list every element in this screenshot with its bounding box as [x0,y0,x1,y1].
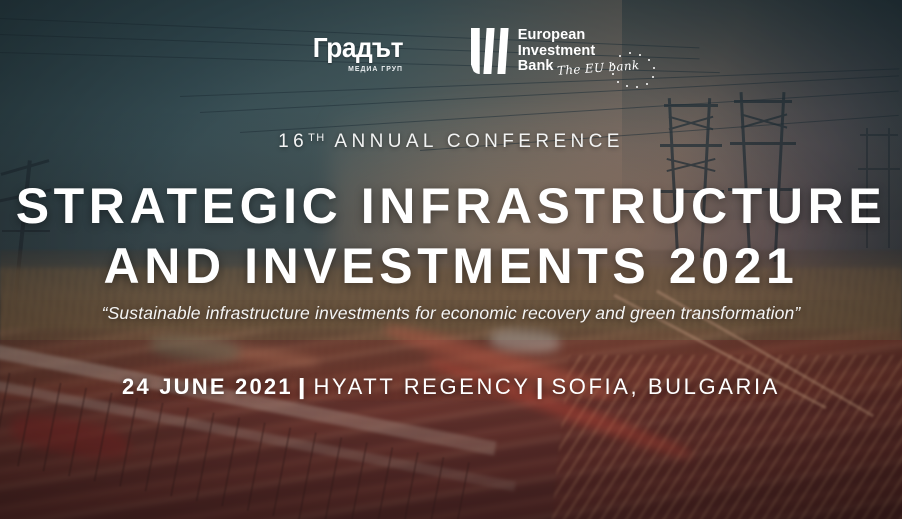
gradat-logo-subtitle: МЕДИА ГРУП [314,64,402,73]
kicker-number: 16 [278,131,308,152]
eu-star-icon [612,63,614,65]
eu-star-icon [617,81,619,83]
gradat-logo-wordmark: Градът [312,34,402,62]
event-details: 24 JUNE 2021|HYATT REGENCY|SOFIA, BULGAR… [0,374,902,400]
banner-content: Градът МЕДИА ГРУП European Investment Ba… [0,0,902,519]
eu-star-icon [619,55,621,57]
eu-star-icon [612,73,614,75]
conference-banner: Градът МЕДИА ГРУП European Investment Ba… [0,0,902,519]
eu-star-icon [629,52,631,54]
eu-star-icon [626,85,628,87]
page-title: STRATEGIC INFRASTRUCTURE AND INVESTMENTS… [0,176,902,296]
eu-star-icon [652,76,654,78]
eu-star-icon [639,54,641,56]
detail-separator: | [289,374,317,400]
conference-tagline: “Sustainable infrastructure investments … [0,303,902,324]
eu-star-icon [653,67,655,69]
eu-star-icon [648,59,650,61]
eu-star-icon [636,86,638,88]
eu-bank-tagline-group: The EU bank [557,55,667,89]
event-venue: HYATT REGENCY [314,374,531,399]
event-date: 24 JUNE 2021 [122,374,293,399]
eib-logo-line-1: European [518,28,596,44]
kicker-text: ANNUAL CONFERENCE [334,131,623,152]
eu-bank-tagline: The EU bank [556,58,639,78]
detail-separator: | [527,374,555,400]
european-investment-bank-logo: European Investment Bank The EU bank [471,22,596,75]
kicker-ordinal: TH [308,132,326,144]
title-line-2: AND INVESTMENTS 2021 [0,236,902,296]
eib-bars-icon [471,28,509,74]
logo-row: Градът МЕДИА ГРУП European Investment Ba… [0,22,902,92]
gradat-media-group-logo: Градът МЕДИА ГРУП [307,22,403,73]
title-line-1: STRATEGIC INFRASTRUCTURE [0,176,902,236]
event-location: SOFIA, BULGARIA [551,374,780,399]
conference-kicker: 16TH ANNUAL CONFERENCE [0,131,902,153]
eu-star-icon [646,83,648,85]
